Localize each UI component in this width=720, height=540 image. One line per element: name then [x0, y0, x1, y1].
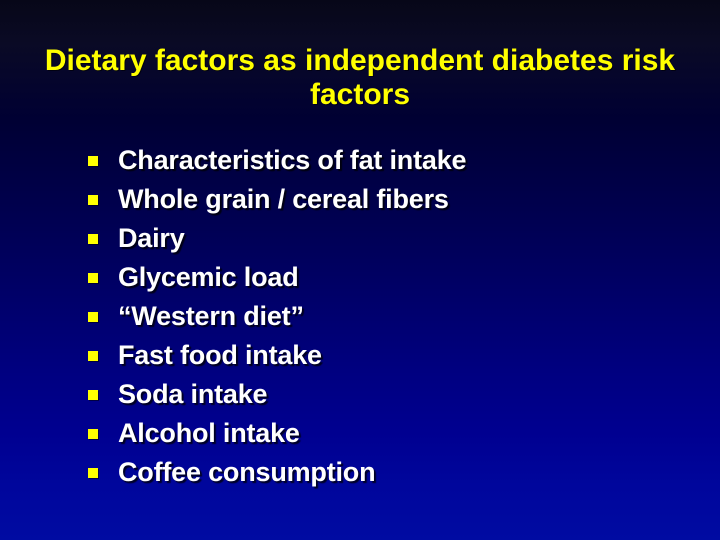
list-item: Whole grain / cereal fibers [88, 179, 688, 218]
list-item-label: Whole grain / cereal fibers [118, 184, 449, 214]
square-bullet-icon [88, 195, 98, 205]
list-item: “Western diet” [88, 296, 688, 335]
square-bullet-icon [88, 273, 98, 283]
list-item-label: Dairy [118, 223, 185, 253]
square-bullet-icon [88, 351, 98, 361]
list-item-label: Characteristics of fat intake [118, 145, 466, 175]
list-item: Coffee consumption [88, 452, 688, 491]
list-item: Fast food intake [88, 335, 688, 374]
square-bullet-icon [88, 429, 98, 439]
list-item-label: Soda intake [118, 379, 267, 409]
list-item: Alcohol intake [88, 413, 688, 452]
list-item: Glycemic load [88, 257, 688, 296]
list-item-label: Fast food intake [118, 340, 322, 370]
list-item-label: Coffee consumption [118, 457, 375, 487]
list-item-label: Alcohol intake [118, 418, 300, 448]
slide-title-line-2: factors [0, 78, 720, 112]
list-item-label: Glycemic load [118, 262, 298, 292]
list-item-label: “Western diet” [118, 301, 304, 331]
slide-title: Dietary factors as independent diabetes … [0, 44, 720, 112]
slide-title-line-1: Dietary factors as independent diabetes … [0, 44, 720, 78]
list-item: Characteristics of fat intake [88, 140, 688, 179]
bullet-list: Characteristics of fat intake Whole grai… [88, 140, 688, 491]
presentation-slide: Dietary factors as independent diabetes … [0, 0, 720, 540]
square-bullet-icon [88, 156, 98, 166]
square-bullet-icon [88, 234, 98, 244]
list-item: Soda intake [88, 374, 688, 413]
square-bullet-icon [88, 390, 98, 400]
square-bullet-icon [88, 468, 98, 478]
list-item: Dairy [88, 218, 688, 257]
square-bullet-icon [88, 312, 98, 322]
